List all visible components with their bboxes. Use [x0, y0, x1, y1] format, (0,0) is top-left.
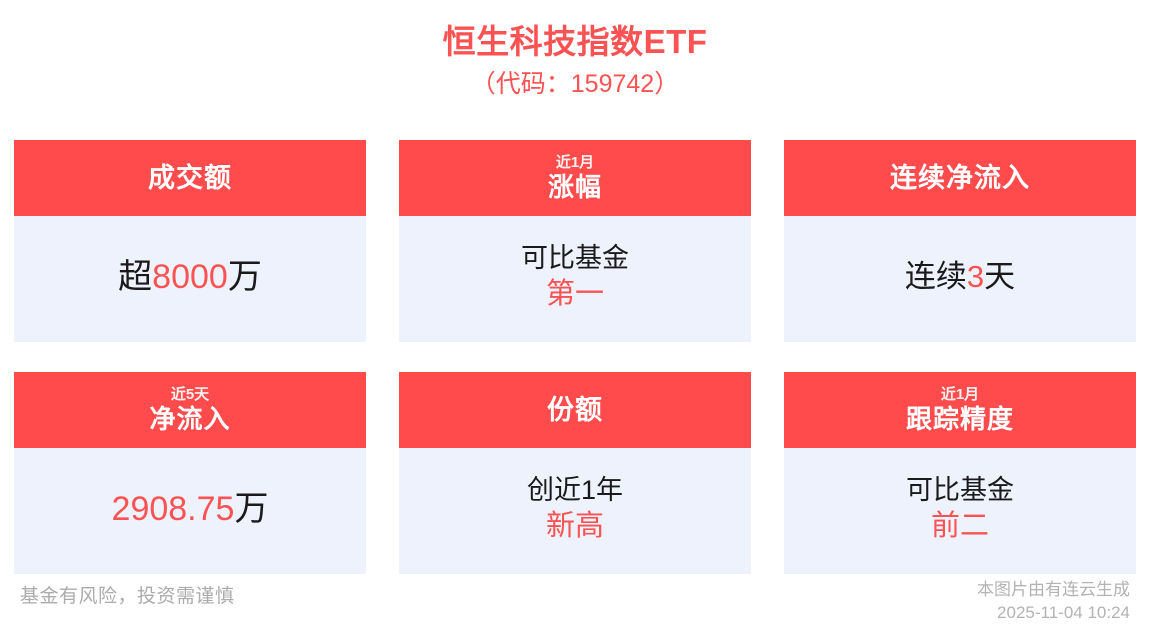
- card-body: 连续3天: [784, 216, 1136, 342]
- page-footer: 基金有风险，投资需谨慎 本图片由有连云生成 2025-11-04 10:24: [0, 570, 1150, 632]
- card-headline: 连续净流入: [890, 161, 1030, 195]
- generator-credit: 本图片由有连云生成 2025-11-04 10:24: [977, 570, 1130, 624]
- card-value-line1: 可比基金: [906, 473, 1014, 507]
- card-value-line2: 第一: [546, 275, 604, 313]
- card-header: 成交额: [14, 140, 366, 216]
- card-headline: 成交额: [148, 161, 232, 195]
- value-number: 3: [967, 259, 984, 294]
- card-header: 份额: [399, 372, 751, 448]
- page-subtitle-code: （代码：159742）: [0, 66, 1150, 102]
- card-body: 可比基金 前二: [784, 448, 1136, 574]
- stat-card-tracking-accuracy: 近1月 跟踪精度 可比基金 前二: [784, 372, 1136, 574]
- card-value-line1: 可比基金: [521, 241, 629, 275]
- generator-name: 本图片由有连云生成: [977, 578, 1130, 601]
- card-value-line2: 新高: [546, 507, 604, 545]
- stat-card-grid: 成交额 超8000万 近1月 涨幅 可比基金 第一 连续净流入 连续3天 近5天…: [14, 140, 1136, 574]
- page-header: 恒生科技指数ETF （代码：159742）: [0, 0, 1150, 102]
- card-headline: 份额: [547, 393, 603, 427]
- card-eyebrow: 近5天: [171, 385, 209, 404]
- stat-card-turnover: 成交额 超8000万: [14, 140, 366, 342]
- stat-card-monthly-gain: 近1月 涨幅 可比基金 第一: [399, 140, 751, 342]
- card-header: 近1月 跟踪精度: [784, 372, 1136, 448]
- value-suffix: 天: [984, 259, 1015, 294]
- card-value: 连续3天: [905, 257, 1015, 297]
- card-value: 超8000万: [118, 257, 262, 297]
- card-body: 可比基金 第一: [399, 216, 751, 342]
- value-number: 2908.75: [112, 490, 235, 528]
- card-header: 近1月 涨幅: [399, 140, 751, 216]
- card-body: 超8000万: [14, 216, 366, 342]
- card-body: 创近1年 新高: [399, 448, 751, 574]
- card-header: 近5天 净流入: [14, 372, 366, 448]
- page-title: 恒生科技指数ETF: [0, 20, 1150, 64]
- stat-card-shares: 份额 创近1年 新高: [399, 372, 751, 574]
- card-body: 2908.75万: [14, 448, 366, 574]
- card-headline: 净流入: [149, 404, 230, 435]
- value-suffix: 万: [228, 258, 262, 296]
- stat-card-net-inflow-5d: 近5天 净流入 2908.75万: [14, 372, 366, 574]
- risk-disclaimer: 基金有风险，投资需谨慎: [20, 570, 235, 610]
- card-header: 连续净流入: [784, 140, 1136, 216]
- value-number: 8000: [152, 258, 228, 296]
- value-prefix: 超: [118, 258, 152, 296]
- card-value: 2908.75万: [112, 489, 269, 529]
- stat-card-consecutive-inflow: 连续净流入 连续3天: [784, 140, 1136, 342]
- generated-timestamp: 2025-11-04 10:24: [977, 601, 1130, 624]
- value-suffix: 万: [234, 490, 268, 528]
- card-headline: 跟踪精度: [906, 404, 1014, 435]
- card-value-line2: 前二: [931, 507, 989, 545]
- card-eyebrow: 近1月: [941, 385, 979, 404]
- card-eyebrow: 近1月: [556, 153, 594, 172]
- card-headline: 涨幅: [548, 172, 602, 203]
- card-value-line1: 创近1年: [527, 473, 623, 507]
- value-prefix: 连续: [905, 259, 967, 294]
